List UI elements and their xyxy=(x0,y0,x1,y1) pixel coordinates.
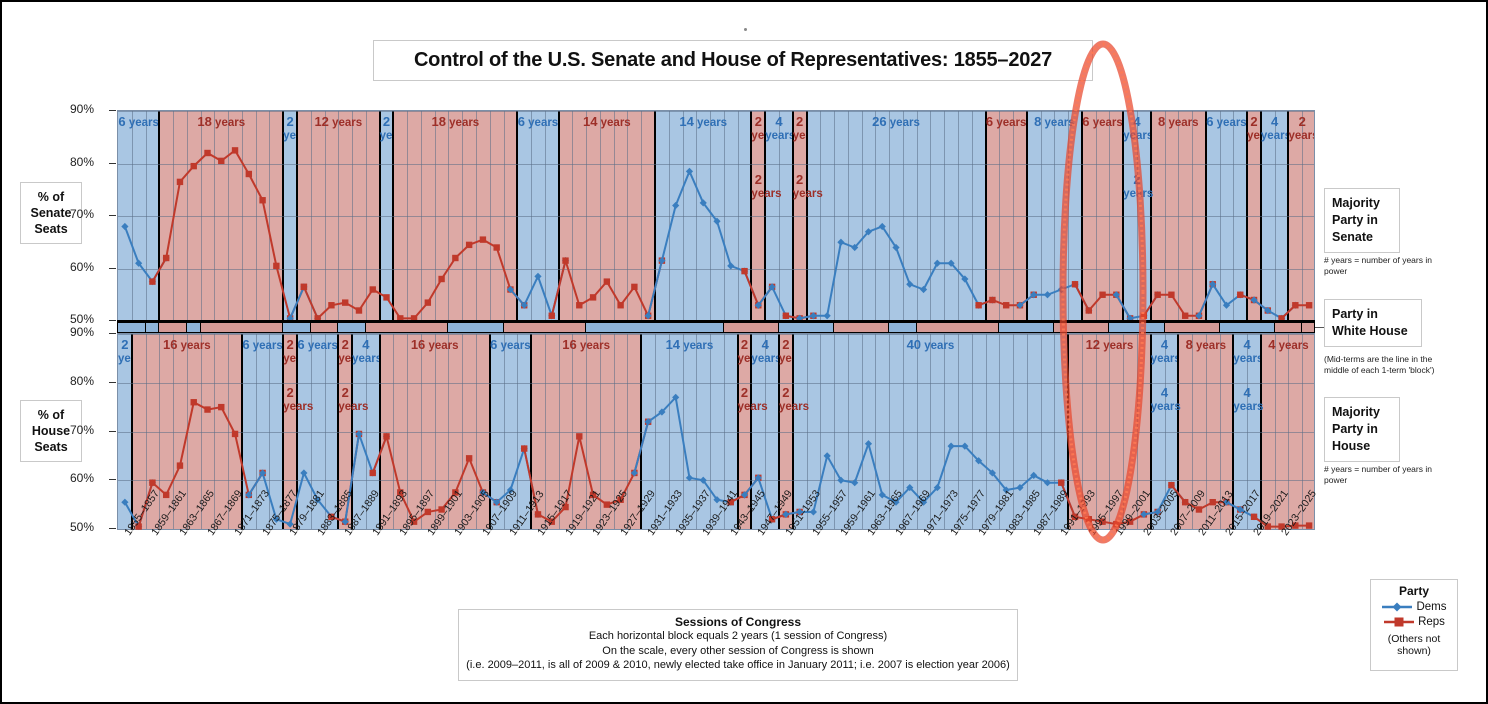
series-line-dem xyxy=(1199,284,1254,316)
y-tick-label-60: 60% xyxy=(48,260,94,274)
white-house-legend: Party in White House xyxy=(1324,299,1422,347)
data-point-rep xyxy=(452,255,458,261)
data-point-rep xyxy=(1251,514,1257,520)
data-point-rep xyxy=(328,302,334,308)
y-tick-mark xyxy=(109,431,116,432)
white-house-block-dem xyxy=(448,323,503,332)
series-line-dem xyxy=(648,171,758,315)
data-point-rep xyxy=(218,158,224,164)
series-line-dem xyxy=(290,287,318,319)
series-line-dem xyxy=(510,261,565,316)
white-house-block-rep xyxy=(917,323,1000,332)
x-axis-labels: 1855–18571859–18611863–18651867–18691871… xyxy=(117,531,1315,603)
rep-line-icon xyxy=(1383,616,1415,628)
series-line-dem xyxy=(1116,295,1157,319)
data-point-dem xyxy=(300,469,307,476)
data-point-dem xyxy=(1044,291,1051,298)
white-house-block-dem xyxy=(1109,323,1164,332)
y-tick-label-90: 90% xyxy=(48,102,94,116)
white-house-strip xyxy=(117,322,1315,333)
series-line-rep xyxy=(152,150,303,318)
data-point-rep xyxy=(493,244,499,250)
majority-house-legend: Majority Party in House xyxy=(1324,397,1400,462)
white-house-block-rep xyxy=(159,323,187,332)
data-point-dem xyxy=(837,239,844,246)
data-point-rep xyxy=(218,404,224,410)
data-point-rep xyxy=(617,302,623,308)
data-point-dem xyxy=(672,202,679,209)
series-line-rep xyxy=(1075,284,1130,318)
stray-dot xyxy=(744,28,747,31)
series-line-dem xyxy=(800,227,993,319)
data-point-dem xyxy=(686,168,693,175)
data-point-rep xyxy=(590,294,596,300)
data-point-rep xyxy=(1168,292,1174,298)
white-house-note: (Mid-terms are the line in the middle of… xyxy=(1324,354,1444,376)
caption-line-1: Each horizontal block equals 2 years (1 … xyxy=(459,629,1017,644)
data-point-rep xyxy=(232,431,238,437)
white-house-block-rep xyxy=(834,323,889,332)
chart-title: Control of the U.S. Senate and House of … xyxy=(373,40,1093,81)
data-point-rep xyxy=(1099,292,1105,298)
caption-heading: Sessions of Congress xyxy=(459,615,1017,629)
data-point-dem xyxy=(1044,479,1051,486)
white-house-block-dem xyxy=(779,323,834,332)
data-point-rep xyxy=(1086,307,1092,313)
series-line-rep xyxy=(1144,284,1213,316)
data-point-rep xyxy=(521,445,527,451)
y-tick-label-70: 70% xyxy=(48,207,94,221)
y-tick-mark xyxy=(109,382,116,383)
y-tick-label-50: 50% xyxy=(48,312,94,326)
senate-plot: 6 years18 years2 years12 years2 years18 … xyxy=(117,110,1315,322)
data-point-dem xyxy=(920,286,927,293)
data-point-rep xyxy=(370,470,376,476)
data-point-rep xyxy=(1141,313,1147,319)
senate-series xyxy=(118,111,1314,321)
series-line-dem xyxy=(634,397,744,502)
data-point-rep xyxy=(975,302,981,308)
white-house-block-rep xyxy=(1054,323,1109,332)
legend-row-reps: Reps xyxy=(1371,616,1457,628)
data-point-dem xyxy=(865,440,872,447)
data-point-rep xyxy=(576,302,582,308)
y-tick-label-50: 50% xyxy=(48,520,94,534)
white-house-block-dem xyxy=(1220,323,1275,332)
data-point-rep xyxy=(301,284,307,290)
data-point-dem xyxy=(824,312,831,319)
y-tick-mark xyxy=(109,479,116,480)
data-point-dem xyxy=(1058,286,1065,293)
data-point-rep xyxy=(204,150,210,156)
data-point-rep xyxy=(576,433,582,439)
series-line-rep xyxy=(745,271,773,305)
data-point-dem xyxy=(534,273,541,280)
white-house-block-dem xyxy=(283,323,311,332)
data-point-rep xyxy=(383,433,389,439)
data-point-rep xyxy=(480,236,486,242)
white-house-block-dem xyxy=(586,323,724,332)
white-house-block-dem xyxy=(187,323,201,332)
page-title: Control of the U.S. Senate and House of … xyxy=(414,49,1052,72)
data-point-rep xyxy=(438,276,444,282)
data-point-rep xyxy=(989,297,995,303)
data-point-rep xyxy=(783,313,789,319)
y-tick-mark xyxy=(109,333,116,334)
data-point-rep xyxy=(535,511,541,517)
data-point-rep xyxy=(1154,292,1160,298)
y-tick-mark xyxy=(109,320,116,321)
white-house-block-dem xyxy=(889,323,917,332)
data-point-dem xyxy=(727,262,734,269)
y-tick-mark xyxy=(109,110,116,111)
data-point-rep xyxy=(425,299,431,305)
legend-row-dems: Dems xyxy=(1371,601,1457,613)
data-point-rep xyxy=(631,284,637,290)
white-house-block-rep xyxy=(201,323,284,332)
data-point-rep xyxy=(1237,292,1243,298)
data-point-rep xyxy=(1003,302,1009,308)
sessions-caption: Sessions of Congress Each horizontal blo… xyxy=(458,609,1018,681)
white-house-block-rep xyxy=(504,323,587,332)
y-tick-label-90: 90% xyxy=(48,325,94,339)
data-point-rep xyxy=(1306,522,1312,528)
data-point-rep xyxy=(562,257,568,263)
series-line-rep xyxy=(552,261,662,316)
y-tick-mark xyxy=(109,528,116,529)
chart-root: Control of the U.S. Senate and House of … xyxy=(0,0,1488,704)
data-point-rep xyxy=(342,299,348,305)
data-point-dem xyxy=(947,443,954,450)
white-house-block-rep xyxy=(724,323,779,332)
data-point-rep xyxy=(149,479,155,485)
legend-label-reps: Reps xyxy=(1418,616,1445,628)
data-point-rep xyxy=(1306,302,1312,308)
legend-label-dems: Dems xyxy=(1416,601,1446,613)
data-point-rep xyxy=(370,286,376,292)
data-point-rep xyxy=(741,268,747,274)
y-tick-mark xyxy=(109,268,116,269)
series-line-rep xyxy=(304,240,524,319)
data-point-rep xyxy=(163,255,169,261)
data-point-rep xyxy=(1072,281,1078,287)
data-point-rep xyxy=(204,406,210,412)
white-house-block-dem xyxy=(338,323,366,332)
caption-line-3: (i.e. 2009–2011, is all of 2009 & 2010, … xyxy=(459,658,1017,673)
data-point-rep xyxy=(356,307,362,313)
data-point-dem xyxy=(121,223,128,230)
y-tick-label-80: 80% xyxy=(48,155,94,169)
white-house-block-rep xyxy=(1275,323,1303,332)
y-tick-mark xyxy=(109,163,116,164)
data-point-rep xyxy=(273,263,279,269)
data-point-rep xyxy=(149,278,155,284)
data-point-rep xyxy=(1292,302,1298,308)
data-point-dem xyxy=(906,281,913,288)
series-line-dem xyxy=(1020,284,1089,310)
dem-line-icon xyxy=(1381,601,1413,613)
white-house-block-rep xyxy=(1165,323,1220,332)
majority-senate-legend: Majority Party in Senate xyxy=(1324,188,1400,253)
data-point-dem xyxy=(879,491,886,498)
data-point-rep xyxy=(466,455,472,461)
data-point-rep xyxy=(466,242,472,248)
data-point-rep xyxy=(177,462,183,468)
data-point-dem xyxy=(934,260,941,267)
y-tick-mark xyxy=(109,215,116,216)
white-house-block-rep xyxy=(1302,323,1315,332)
data-point-rep xyxy=(549,313,555,319)
data-point-dem xyxy=(851,479,858,486)
data-point-dem xyxy=(686,474,693,481)
series-line-dem xyxy=(125,227,166,282)
y-tick-label-60: 60% xyxy=(48,471,94,485)
series-line-dem xyxy=(1254,300,1295,318)
white-house-block-rep xyxy=(366,323,449,332)
y-tick-label-80: 80% xyxy=(48,374,94,388)
data-point-rep xyxy=(383,294,389,300)
data-point-rep xyxy=(1058,479,1064,485)
white-house-block-dem xyxy=(146,323,160,332)
white-house-block-dem xyxy=(999,323,1054,332)
party-legend: Party Dems Reps (Others not shown) xyxy=(1370,579,1458,671)
majority-senate-note: # years = number of years in power xyxy=(1324,255,1434,277)
legend-others-note: (Others not shown) xyxy=(1371,633,1457,657)
data-point-rep xyxy=(163,492,169,498)
white-house-block-dem xyxy=(118,323,146,332)
series-line-dem xyxy=(758,287,799,319)
data-point-rep xyxy=(259,197,265,203)
data-point-rep xyxy=(1182,313,1188,319)
white-house-block-rep xyxy=(311,323,339,332)
data-point-rep xyxy=(177,179,183,185)
data-point-rep xyxy=(191,399,197,405)
data-point-rep xyxy=(191,163,197,169)
majority-house-note: # years = number of years in power xyxy=(1324,464,1434,486)
data-point-rep xyxy=(604,278,610,284)
data-point-rep xyxy=(246,171,252,177)
caption-line-2: On the scale, every other session of Con… xyxy=(459,644,1017,659)
y-tick-label-70: 70% xyxy=(48,423,94,437)
data-point-rep xyxy=(232,147,238,153)
legend-title: Party xyxy=(1371,584,1457,598)
